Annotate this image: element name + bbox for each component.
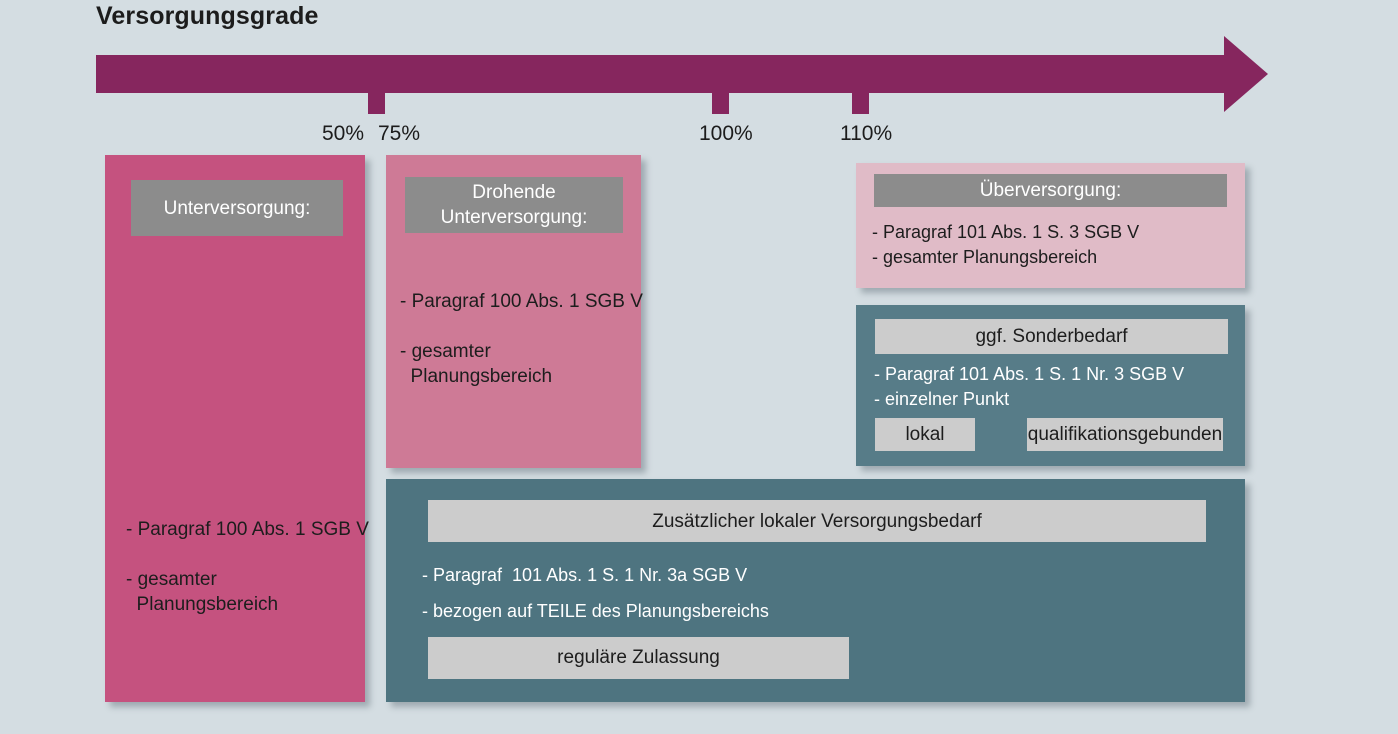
panel-undersupply-header: Unterversorgung: — [131, 180, 343, 236]
panel-threatened-undersupply-body: - Paragraf 100 Abs. 1 SGB V - gesamter P… — [400, 289, 643, 389]
axis-arrow-shaft — [96, 55, 1225, 93]
panel-additional-local-need-body: - Paragraf 101 Abs. 1 S. 1 Nr. 3a SGB V … — [422, 557, 769, 629]
panel-undersupply: Unterversorgung: - Paragraf 100 Abs. 1 S… — [105, 155, 365, 702]
panel-special-need-body: - Paragraf 101 Abs. 1 S. 1 Nr. 3 SGB V -… — [874, 362, 1184, 412]
axis-tick-100 — [712, 93, 729, 114]
panel-oversupply-header: Überversorgung: — [874, 174, 1227, 207]
panel-special-need-header: ggf. Sonderbedarf — [875, 319, 1228, 354]
axis-label-100: 100% — [699, 122, 753, 146]
axis-label-75: 75% — [378, 122, 420, 146]
axis-tick-110 — [852, 93, 869, 114]
panel-threatened-undersupply-header: Drohende Unterversorgung: — [405, 177, 623, 233]
panel-oversupply: Überversorgung: - Paragraf 101 Abs. 1 S.… — [856, 163, 1245, 288]
panel-threatened-undersupply: Drohende Unterversorgung: - Paragraf 100… — [386, 155, 641, 468]
panel-additional-local-need-header: Zusätzlicher lokaler Versorgungsbedarf — [428, 500, 1206, 542]
panel-oversupply-body: - Paragraf 101 Abs. 1 S. 3 SGB V - gesam… — [872, 220, 1139, 270]
panel-undersupply-body: - Paragraf 100 Abs. 1 SGB V - gesamter P… — [126, 517, 369, 617]
chip-lokal[interactable]: lokal — [875, 418, 975, 451]
chip-regulaere-zulassung[interactable]: reguläre Zulassung — [428, 637, 849, 679]
axis-label-50: 50% — [322, 122, 364, 146]
axis-label-110: 110% — [840, 122, 892, 146]
diagram-canvas: Versorgungsgrade 50% 75% 100% 110% Unter… — [0, 0, 1398, 734]
page-title: Versorgungsgrade — [96, 2, 319, 31]
panel-additional-local-need: Zusätzlicher lokaler Versorgungsbedarf -… — [386, 479, 1245, 702]
axis-arrow-head — [1224, 36, 1268, 112]
chip-qualifikationsgebunden[interactable]: qualifikationsgebunden — [1027, 418, 1223, 451]
axis-tick-75 — [368, 93, 385, 114]
panel-special-need: ggf. Sonderbedarf - Paragraf 101 Abs. 1 … — [856, 305, 1245, 466]
